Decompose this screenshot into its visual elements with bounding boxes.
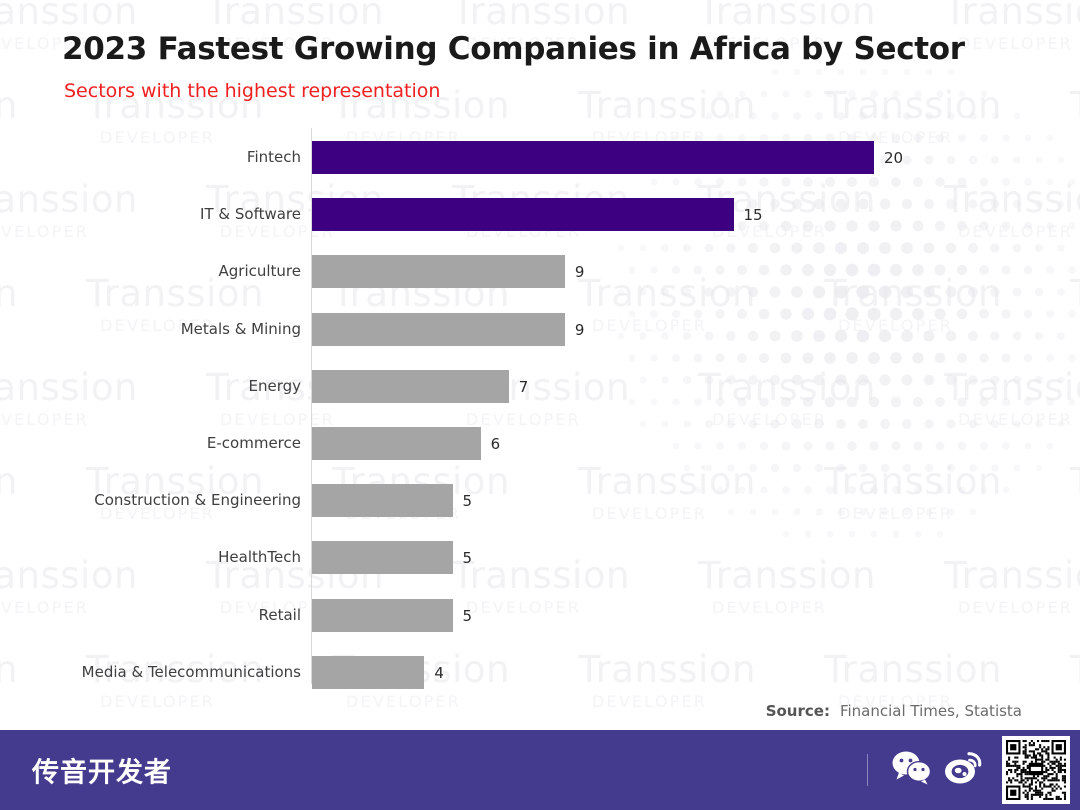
bar[interactable] [312, 313, 565, 346]
bar-value-label: 9 [575, 255, 585, 288]
bar[interactable] [312, 541, 453, 574]
bar-category-label: HealthTech [218, 541, 301, 574]
bar[interactable] [312, 255, 565, 288]
bar-value-label: 5 [463, 541, 473, 574]
bar-category-label: Fintech [247, 141, 301, 174]
wechat-icon[interactable] [892, 751, 932, 790]
watermark-brand: Transsion [0, 0, 206, 33]
watermark-brand: Transsion [206, 0, 452, 33]
watermark-brand: Transsion [944, 0, 1080, 33]
watermark-brand: Transsion [824, 84, 1070, 127]
footer-brand-label: 传音开发者 [32, 751, 172, 790]
bar-value-label: 15 [744, 198, 763, 231]
bar-category-label: Metals & Mining [181, 313, 301, 346]
plot-area: Fintech20IT & Software15Agriculture9Meta… [0, 128, 1080, 700]
qr-code[interactable] [1002, 736, 1070, 804]
bar[interactable] [312, 198, 734, 231]
bar[interactable] [312, 599, 453, 632]
bar[interactable] [312, 427, 481, 460]
bar-value-label: 20 [884, 141, 903, 174]
bar[interactable] [312, 370, 509, 403]
bar-value-label: 5 [463, 599, 473, 632]
bar[interactable] [312, 484, 453, 517]
bar-value-label: 9 [575, 313, 585, 346]
source-value: Financial Times, Statista [840, 702, 1022, 720]
watermark-brand: Transsion [578, 84, 824, 127]
bar-row: HealthTech5 [0, 541, 1080, 574]
footer-bar: 传音开发者 [0, 730, 1080, 810]
bar-category-label: Retail [259, 599, 301, 632]
bar-category-label: Media & Telecommunications [82, 656, 301, 689]
footer-divider [867, 754, 868, 786]
bar-value-label: 4 [434, 656, 444, 689]
bar-category-label: Energy [248, 370, 301, 403]
bar-value-label: 6 [491, 427, 501, 460]
bar-row: E-commerce6 [0, 427, 1080, 460]
bar-row: Retail5 [0, 599, 1080, 632]
bar[interactable] [312, 141, 874, 174]
bar-row: Agriculture9 [0, 255, 1080, 288]
chart-subtitle: Sectors with the highest representation [64, 80, 440, 102]
bar-row: Energy7 [0, 370, 1080, 403]
bar-value-label: 5 [463, 484, 473, 517]
watermark-brand: Transsion [698, 0, 944, 33]
weibo-icon[interactable] [944, 751, 982, 790]
bar-row: Metals & Mining9 [0, 313, 1080, 346]
bar-row: Media & Telecommunications4 [0, 656, 1080, 689]
bar-value-label: 7 [519, 370, 529, 403]
bar-row: Construction & Engineering5 [0, 484, 1080, 517]
watermark-brand: Transsion [1070, 84, 1080, 127]
bar-category-label: Agriculture [219, 255, 302, 288]
source-label: Source: [766, 702, 830, 720]
chart-page: TranssionTranssionTranssionTranssionTran… [0, 0, 1080, 810]
source-attribution: Source:Financial Times, Statista [766, 702, 1022, 720]
bar-category-label: IT & Software [200, 198, 301, 231]
bar[interactable] [312, 656, 424, 689]
bar-category-label: Construction & Engineering [94, 484, 301, 517]
bar-row: IT & Software15 [0, 198, 1080, 231]
watermark-brand: Transsion [452, 0, 698, 33]
bar-category-label: E-commerce [207, 427, 301, 460]
watermark-sub: DEVELOPER [958, 34, 1080, 53]
chart-title: 2023 Fastest Growing Companies in Africa… [62, 31, 965, 67]
bar-row: Fintech20 [0, 141, 1080, 174]
